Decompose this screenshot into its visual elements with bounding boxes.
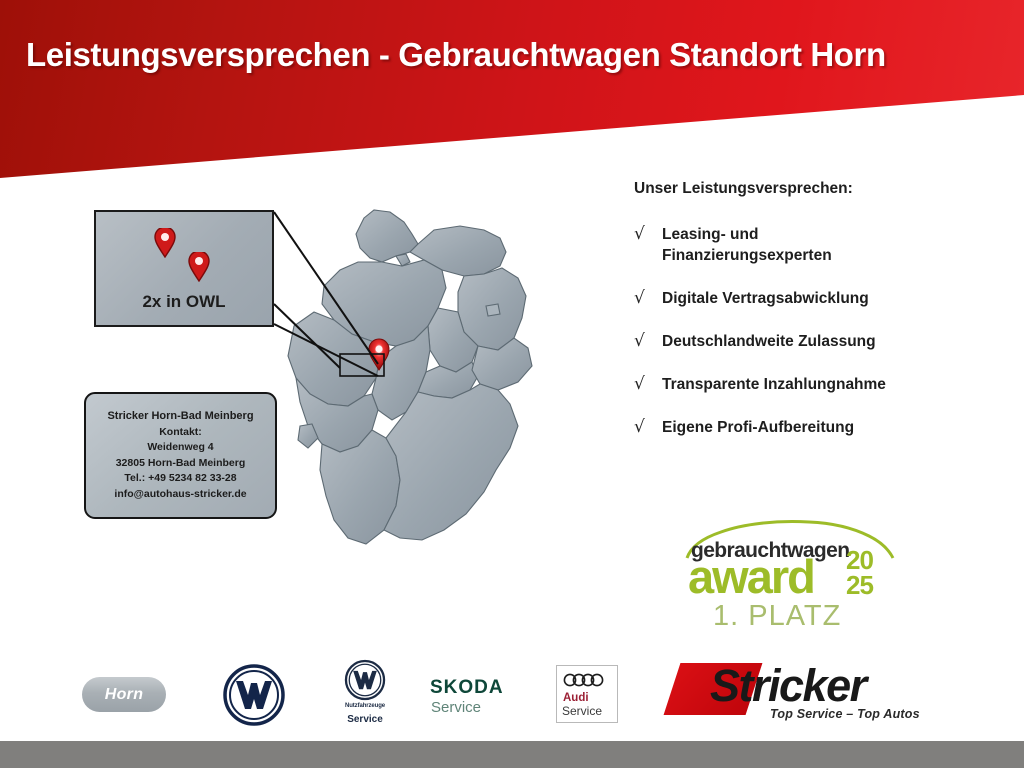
promise-item: √ Digitale Vertragsabwicklung [634,288,994,309]
award-badge: gebrauchtwagen award 20 25 1. PLATZ [681,512,899,632]
contact-line-kontakt: Kontakt: [159,425,202,441]
logo-volkswagen [222,655,294,735]
horn-pill-shape: Horn [82,677,166,712]
owl-inset-map: 2x in OWL [94,210,274,327]
vw-nfz-line1: Nutzfahrzeuge [325,703,405,709]
contact-line-phone[interactable]: Tel.: +49 5234 82 33-28 [124,471,236,487]
logo-stricker: Stricker Top Service – Top Autos [672,655,952,735]
award-rank-label: 1. PLATZ [713,600,841,633]
promise-label: Digitale Vertragsabwicklung [662,288,869,309]
header-banner [0,0,1024,185]
stricker-name: Stricker [710,660,866,712]
footer-bar [0,741,1024,768]
audi-service-label: Service [562,704,602,718]
award-year-bottom: 25 [846,573,873,598]
promises-heading: Unser Leistungsversprechen: [634,180,994,198]
owl-inset-label: 2x in OWL [96,292,272,312]
promise-item: √ Eigene Profi-Aufbereitung [634,417,994,438]
logo-horn: Horn [82,655,172,735]
promise-label: Deutschlandweite Zulassung [662,331,876,352]
audi-rings-icon [562,673,612,687]
logo-vw-nutzfahrzeuge: Nutzfahrzeuge Service [325,655,405,735]
promise-item: √ Deutschlandweite Zulassung [634,331,994,352]
audi-logo-box: Audi Service [556,665,618,723]
map-pin-icon [188,252,210,282]
horn-label: Horn [105,686,144,704]
contact-line-street: Weidenweg 4 [147,440,213,456]
page-title: Leistungsversprechen - Gebrauchtwagen St… [26,36,1006,74]
award-word-main: award [688,553,814,600]
promise-label: Eigene Profi-Aufbereitung [662,417,854,438]
logo-skoda-service: SKODA Service [430,655,530,735]
contact-line-name: Stricker Horn-Bad Meinberg [107,409,253,425]
promises-section: Unser Leistungsversprechen: √ Leasing- u… [634,180,994,460]
audi-name: Audi [563,692,589,704]
stricker-tagline: Top Service – Top Autos [770,707,920,721]
skoda-service-label: Service [431,699,481,716]
map-pin-icon [154,228,176,258]
contact-info-box: Stricker Horn-Bad Meinberg Kontakt: Weid… [84,392,277,519]
check-icon: √ [634,417,662,437]
promise-label: Leasing- und Finanzierungsexperten [662,224,832,266]
vw-logo-icon [222,663,286,727]
logo-audi-service: Audi Service [556,655,624,735]
promise-item: √ Transparente Inzahlungnahme [634,374,994,395]
map-region: 2x in OWL Stricker Horn-Bad Meinberg Kon… [78,196,598,636]
check-icon: √ [634,331,662,351]
promise-label: Transparente Inzahlungnahme [662,374,886,395]
contact-line-city: 32805 Horn-Bad Meinberg [116,456,246,472]
check-icon: √ [634,288,662,308]
contact-line-email[interactable]: info@autohaus-stricker.de [114,487,246,503]
vw-logo-icon [344,659,386,701]
promise-item: √ Leasing- und Finanzierungsexperten [634,224,994,266]
skoda-name: SKODA [430,677,504,699]
check-icon: √ [634,374,662,394]
vw-nfz-line2: Service [325,714,405,725]
brand-logo-strip: Horn Nutzfahrzeuge Service SKODA Service [0,655,1024,735]
check-icon: √ [634,224,662,244]
